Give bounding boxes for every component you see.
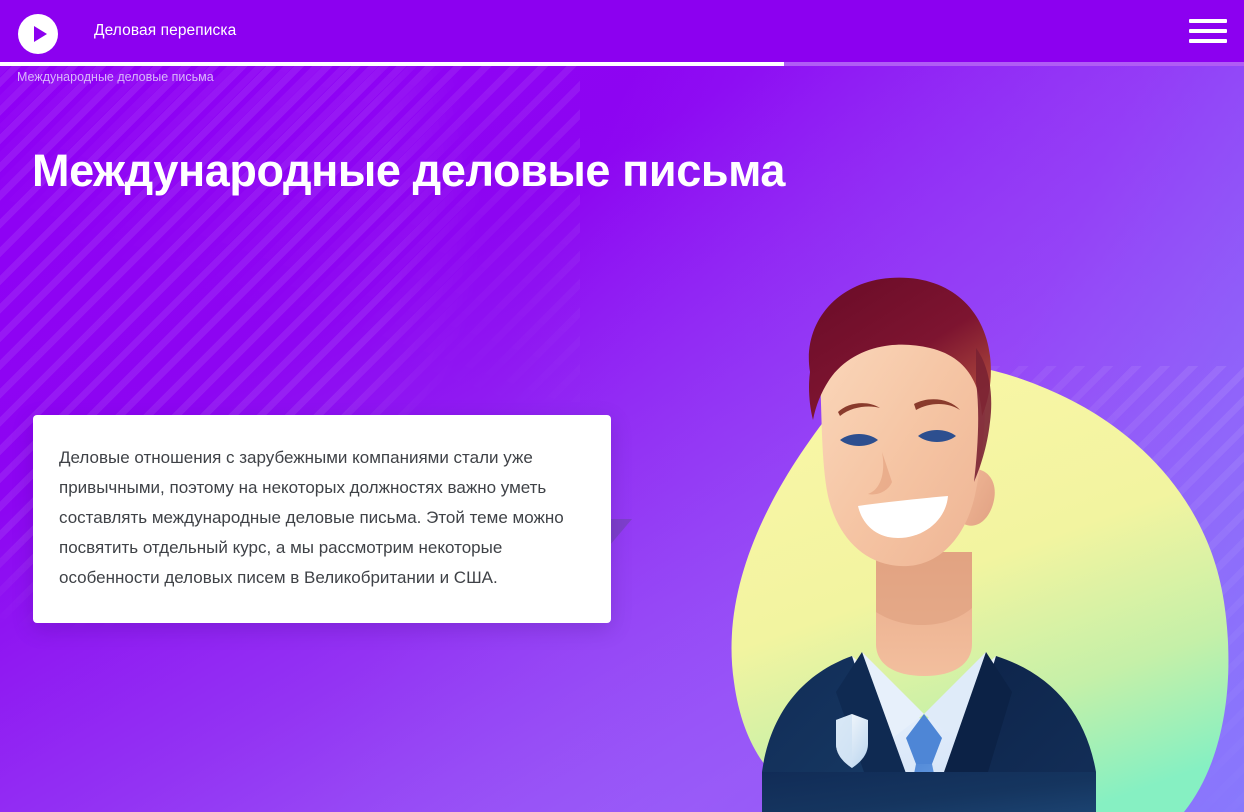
course-title[interactable]: Деловая переписка (94, 0, 236, 62)
breadcrumb[interactable]: Международные деловые письма (17, 70, 214, 84)
menu-bar-3 (1189, 39, 1227, 43)
play-triangle-icon (34, 26, 47, 42)
course-progress-track[interactable] (0, 62, 1244, 66)
play-circle-icon[interactable] (18, 14, 58, 54)
intro-card: Деловые отношения с зарубежными компания… (33, 415, 611, 623)
course-progress-fill (0, 62, 784, 66)
page-title: Международные деловые письма (32, 145, 785, 197)
hamburger-menu-icon[interactable] (1189, 14, 1227, 48)
diagonal-stripes-right (884, 366, 1244, 812)
intro-card-text: Деловые отношения с зарубежными компания… (59, 443, 575, 593)
card-fold-triangle (610, 519, 632, 545)
app-header: Деловая переписка (0, 0, 1244, 62)
menu-bar-1 (1189, 19, 1227, 23)
menu-bar-2 (1189, 29, 1227, 33)
diagonal-stripes-bottom-left (0, 66, 580, 402)
page-root: Деловая переписка Международные деловые … (0, 0, 1244, 812)
